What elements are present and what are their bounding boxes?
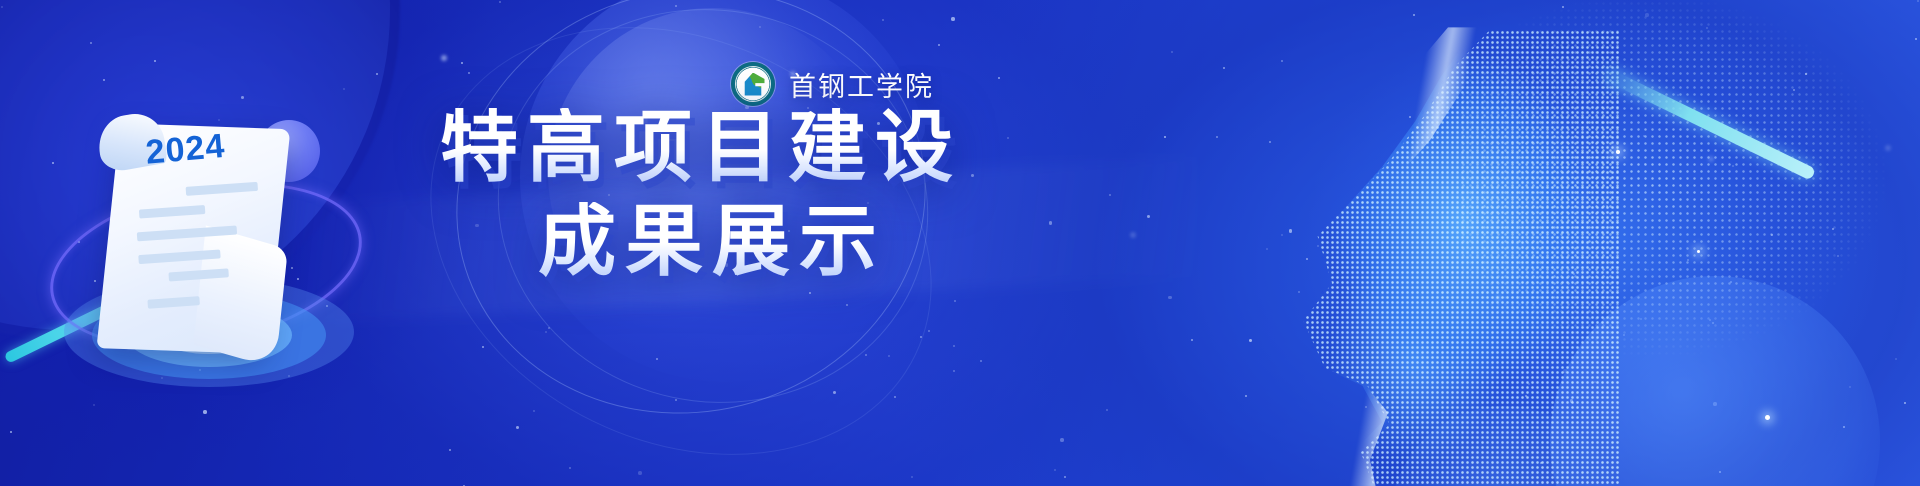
- shougang-institute-emblem-icon: [731, 62, 775, 106]
- headline-line-1: 特高项目建设: [440, 108, 1100, 188]
- banner-content: 首钢工学院 特高项目建设 成果展示: [0, 0, 1920, 486]
- banner-root: 2024 首钢工学院 特高项目建设 成果展: [0, 0, 1920, 486]
- brand-lockup: 首钢工学院: [731, 62, 934, 106]
- headline: 特高项目建设 成果展示: [440, 108, 1100, 281]
- emblem-g-mark: [742, 73, 765, 96]
- headline-line-2: 成果展示: [538, 202, 1100, 282]
- institution-name: 首钢工学院: [789, 65, 934, 104]
